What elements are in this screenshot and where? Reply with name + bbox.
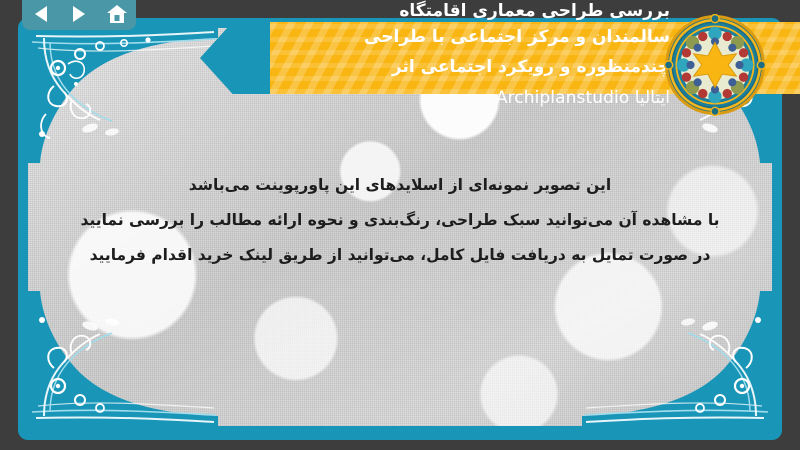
slide-frame: این تصویر نمونه‌ای از اسلایدهای این پاور… [18, 18, 782, 440]
home-button[interactable] [103, 2, 131, 26]
body-line-1: این تصویر نمونه‌ای از اسلایدهای این پاور… [68, 168, 732, 203]
navigation-toolbar[interactable] [22, 0, 136, 30]
triangle-right-icon [71, 5, 87, 23]
triangle-left-icon [33, 5, 49, 23]
slide-body-text: این تصویر نمونه‌ای از اسلایدهای این پاور… [68, 168, 732, 273]
arabesque-corner-top-left-icon [28, 28, 218, 163]
body-line-2: با مشاهده آن می‌توانید سبک طراحی، رنگ‌بن… [68, 203, 732, 238]
home-icon [107, 5, 127, 24]
arabesque-corner-top-right-icon [582, 28, 772, 163]
back-button[interactable] [27, 2, 55, 26]
arabesque-corner-bottom-left-icon [28, 291, 218, 426]
slide-viewer: این تصویر نمونه‌ای از اسلایدهای این پاور… [0, 0, 800, 450]
slide-canvas: این تصویر نمونه‌ای از اسلایدهای این پاور… [28, 28, 772, 426]
forward-button[interactable] [65, 2, 93, 26]
body-line-3: در صورت تمایل به دریافت فایل کامل، می‌تو… [68, 238, 732, 273]
arabesque-corner-bottom-right-icon [582, 291, 772, 426]
